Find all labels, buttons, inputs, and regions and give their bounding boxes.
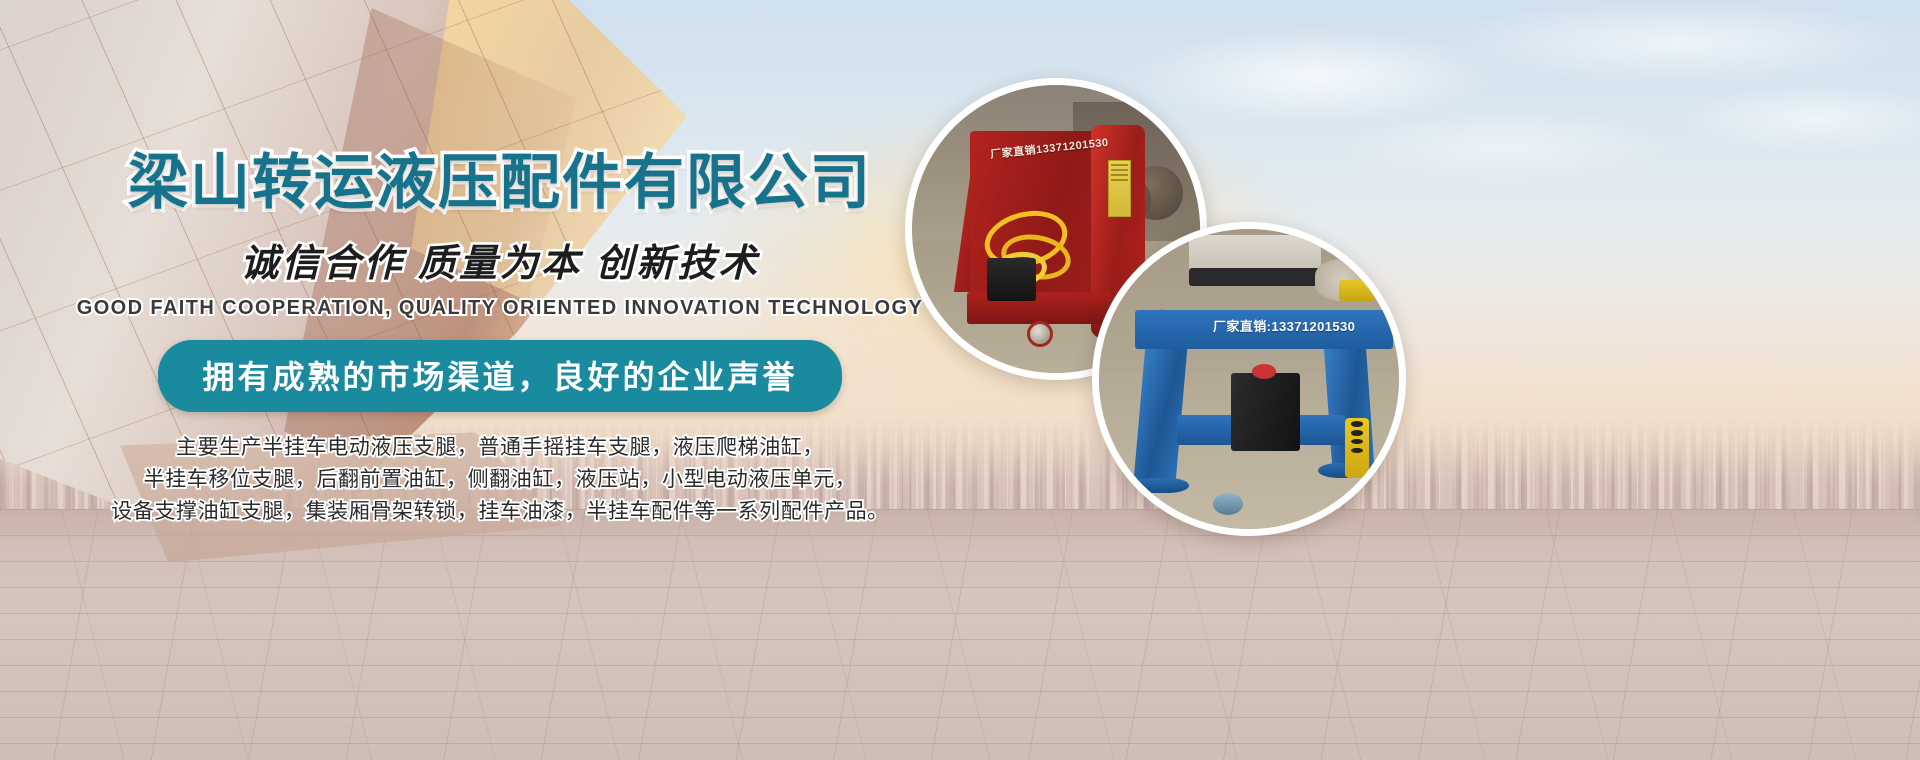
hydraulic-power-pack [1231,373,1300,451]
vehicle-bumper [1189,268,1321,286]
description-line-2: 半挂车移位支腿，后翻前置油缸，侧翻油缸，液压站，小型电动液压单元， [0,464,1000,496]
description-block: 主要生产半挂车电动液压支腿，普通手摇挂车支腿，液压爬梯油缸， 半挂车移位支腿，后… [0,432,1000,528]
electric-motor [987,258,1036,301]
description-line-3: 设备支撑油缸支腿，集装厢骨架转锁，挂车油漆，半挂车配件等一系列配件产品。 [0,496,1000,528]
product-photo-blue[interactable]: 厂家直销:13371201530 [1092,222,1406,536]
highlight-pill-wrap: 拥有成熟的市场渠道，良好的企业声誉 [0,340,1000,412]
spec-label [1108,160,1131,218]
tagline-en: GOOD FAITH COOPERATION, QUALITY ORIENTED… [0,297,1000,320]
pump-cap-icon [1252,364,1276,379]
yellow-parts-stack [1339,280,1375,301]
hero-banner: 梁山转运液压配件有限公司 诚信合作 质量为本 创新技术 GOOD FAITH C… [0,0,1920,760]
blue-foot-pad-left [1132,478,1189,493]
blue-caster-wheel [1213,493,1243,515]
blue-machine-scene: 厂家直销:13371201530 [1099,229,1399,529]
subtitle-cn: 诚信合作 质量为本 创新技术 [0,232,1000,287]
company-title: 梁山转运液压配件有限公司 [0,150,1000,216]
highlight-pill: 拥有成熟的市场渠道，良好的企业声誉 [158,340,841,412]
banner-copy: 梁山转运液压配件有限公司 诚信合作 质量为本 创新技术 GOOD FAITH C… [0,150,1000,528]
description-line-1: 主要生产半挂车电动液压支腿，普通手摇挂车支腿，液压爬梯油缸， [0,432,1000,464]
blue-machine-overlay-text: 厂家直销:13371201530 [1213,316,1355,335]
pendant-remote-control [1345,418,1369,478]
